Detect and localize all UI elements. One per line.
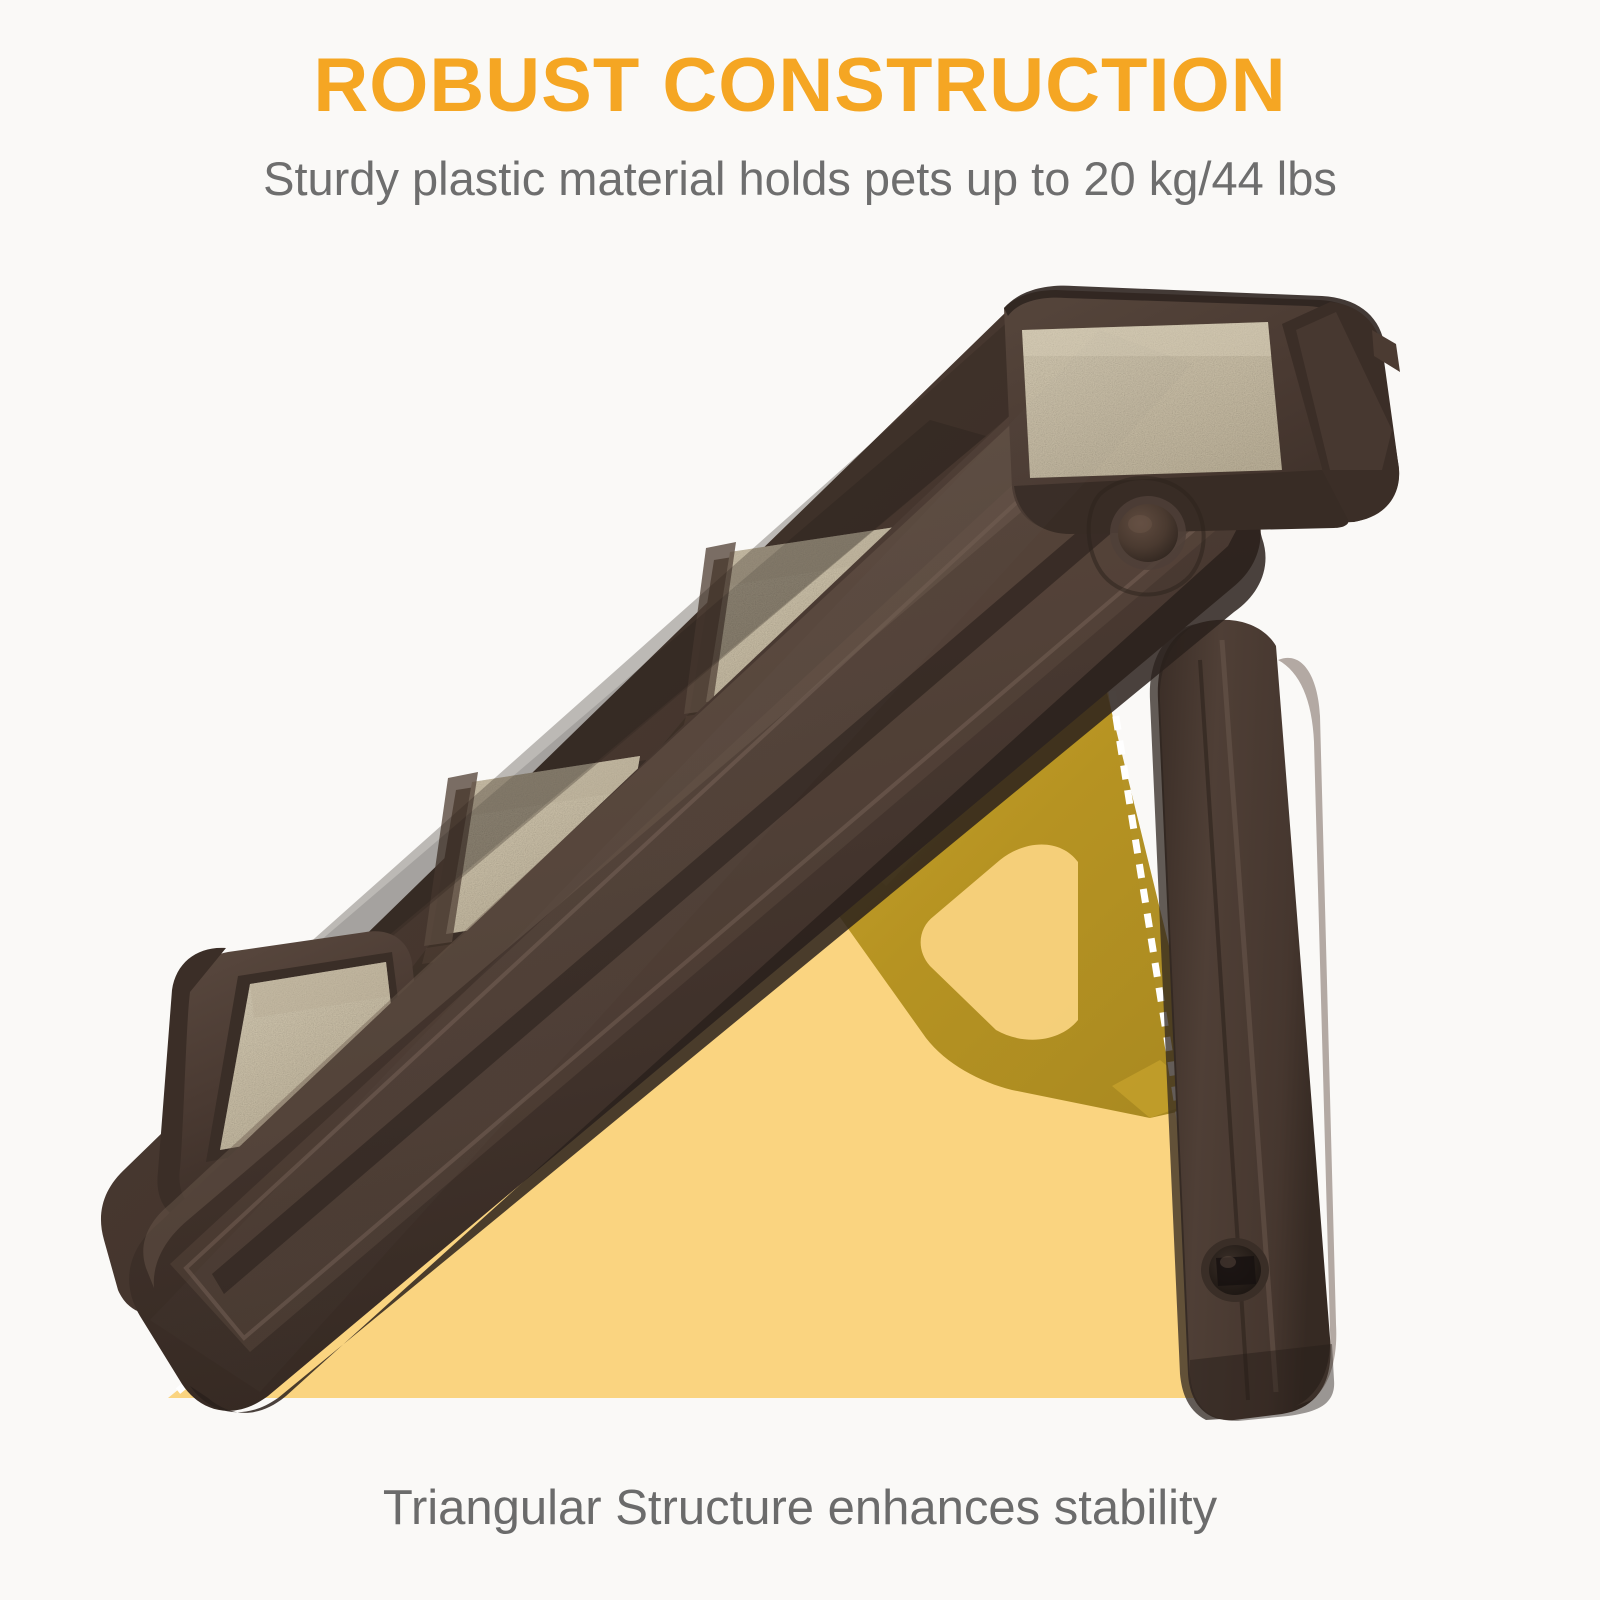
page-subheadline: Sturdy plastic material holds pets up to…: [0, 152, 1600, 206]
rear-support-leg: [1150, 620, 1336, 1421]
product-svg: [0, 0, 1600, 1600]
product-feature-image: ROBUST CONSTRUCTION Sturdy plastic mater…: [0, 0, 1600, 1600]
leg-screw-rivet: [1201, 1238, 1269, 1302]
page-headline: ROBUST CONSTRUCTION: [0, 48, 1600, 124]
bottom-caption: Triangular Structure enhances stability: [0, 1480, 1600, 1536]
product-illustration: [0, 0, 1600, 1600]
